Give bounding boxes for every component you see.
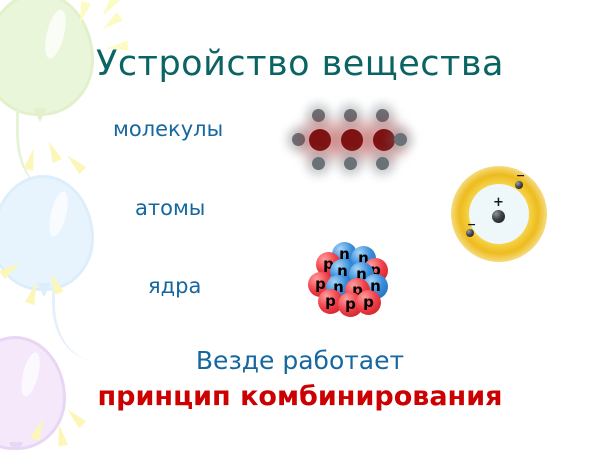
- molecule-gray-atom: [312, 157, 325, 170]
- molecule-gray-atom: [312, 109, 325, 122]
- stage-label-atoms: атомы: [135, 196, 205, 220]
- molecule-gray-atom: [344, 109, 357, 122]
- molecule-red-atom: [341, 129, 363, 151]
- molecule-gray-atom: [376, 109, 389, 122]
- stage-label-nuclei: ядра: [148, 274, 201, 298]
- atomic-nucleus-diagram: nnppnnpnpnppp: [308, 242, 392, 318]
- balloon-gloss: [45, 190, 71, 239]
- sparkle-ray-icon: [75, 1, 91, 25]
- atom-diagram: + − −: [447, 163, 553, 267]
- balloon-knot: [9, 442, 23, 450]
- molecule-red-atom: [373, 129, 395, 151]
- balloon-knot: [33, 108, 47, 122]
- atom-nucleus-icon: [492, 210, 505, 223]
- sparkle-ray-icon: [23, 147, 38, 171]
- sparkle-ray-icon: [98, 0, 119, 19]
- molecule-gray-atom: [376, 157, 389, 170]
- sparkle-ray-icon: [0, 259, 23, 280]
- green-balloon-string: [16, 110, 61, 188]
- page-title: Устройство вещества: [0, 44, 600, 84]
- positive-charge-sign: +: [493, 196, 504, 209]
- negative-charge-sign: −: [516, 170, 525, 181]
- molecule-gray-atom: [292, 133, 305, 146]
- stage-label-molecules: молекулы: [113, 117, 223, 141]
- proton-sphere: p: [356, 290, 381, 315]
- molecule-lattice-diagram: [288, 103, 410, 175]
- molecule-gray-atom: [344, 157, 357, 170]
- slide-canvas: Устройство вещества молекулы атомы ядра …: [0, 0, 600, 450]
- sparkle-ray-icon: [46, 271, 64, 295]
- sparkle-ray-icon: [99, 12, 122, 33]
- sparkle-ray-icon: [25, 281, 41, 305]
- sparkle-ray-icon: [30, 417, 48, 441]
- conclusion-line-2: принцип комбинирования: [0, 381, 600, 412]
- conclusion-line-1: Везде работает: [0, 346, 600, 375]
- negative-charge-sign: −: [467, 219, 476, 230]
- sparkle-ray-icon: [64, 152, 87, 174]
- balloon-knot: [37, 283, 51, 297]
- molecule-red-atom: [309, 129, 331, 151]
- blue-balloon: [0, 175, 94, 291]
- electron-icon: [515, 181, 523, 189]
- molecule-gray-atom: [394, 133, 407, 146]
- sparkle-ray-icon: [54, 423, 68, 447]
- sparkle-ray-icon: [44, 139, 62, 163]
